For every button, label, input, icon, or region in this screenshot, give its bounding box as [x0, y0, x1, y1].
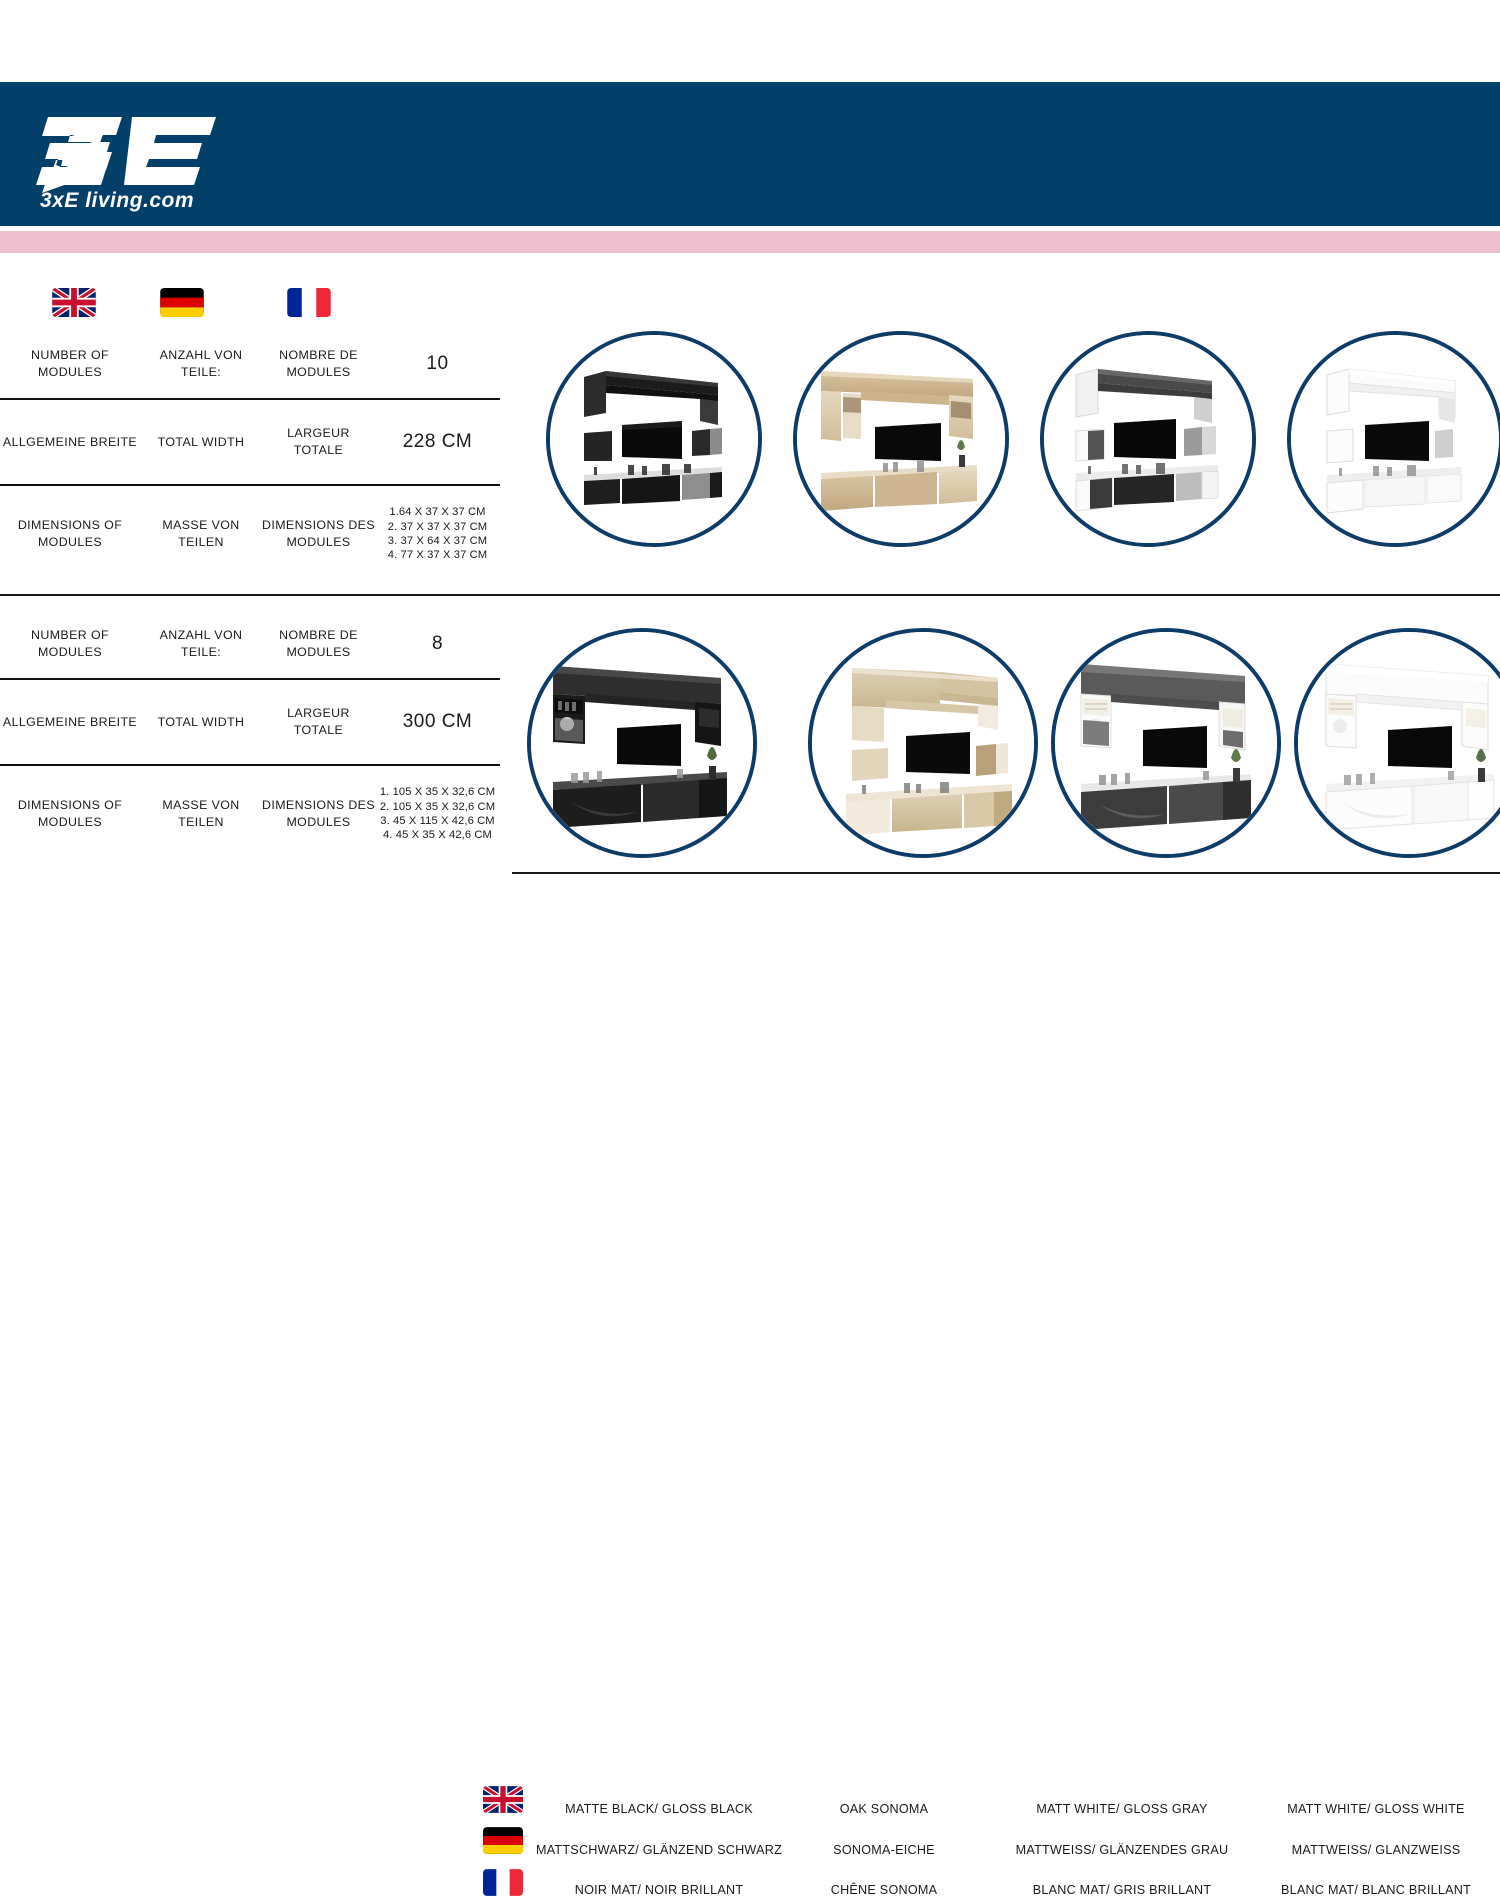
product-image-300-matt-white-gloss-gray[interactable] [1051, 628, 1281, 858]
legend-finish-fr: BLANC MAT/ GRIS BRILLANT [1033, 1883, 1212, 1897]
legend-finish-de: MATTWEISS/ GLANZWEISS [1292, 1843, 1461, 1857]
table-row: ALLGEMEINE BREITE TOTAL WIDTH LARGEUR TO… [0, 678, 500, 764]
dimension-line: 4. 77 X 37 X 37 CM [375, 548, 500, 562]
row-value: 228 CM [375, 430, 500, 454]
table-row: NUMBER OF MODULES ANZAHL VON TEILE: NOMB… [0, 330, 500, 398]
row-label-en: DIMENSIONS OF MODULES [0, 797, 140, 831]
product-image-300-oak-sonoma[interactable] [808, 628, 1038, 858]
row-label-en: ALLGEMEINE BREITE [0, 714, 140, 731]
legend-finish-de: SONOMA-EICHE [833, 1843, 935, 1857]
dimension-line: 1. 105 X 35 X 32,6 CM [375, 785, 500, 799]
dimension-line: 2. 37 X 37 x 37 CM [375, 520, 500, 534]
legend-finish-fr: BLANC MAT/ BLANC BRILLANT [1281, 1883, 1471, 1897]
legend-finish-en: MATT WHITE/ GLOSS WHITE [1287, 1802, 1464, 1816]
row-label-fr: NOMBRE DE MODULES [262, 347, 375, 381]
brand-logo: 3xE living.com [36, 108, 226, 213]
dimension-line: 2. 105 X 35 X 32,6 CM [375, 800, 500, 814]
row-label-en: NUMBER OF MODULES [0, 627, 140, 661]
logo-wordmark: 3xE living.com [40, 189, 194, 212]
row-label-en: DIMENSIONS OF MODULES [0, 517, 140, 551]
finish-legend: MATTE BLACK/ GLOSS BLACK OAK SONOMA MATT… [0, 888, 1500, 1038]
legend-finish-en: OAK SONOMA [840, 1802, 929, 1816]
logo-3e-icon: 3xE living.com [36, 108, 226, 213]
uk-flag-icon [483, 1786, 523, 1813]
french-flag-icon [483, 1869, 523, 1896]
row-value: 300 CM [375, 710, 500, 734]
row-value: 10 [375, 352, 500, 376]
table-row: NUMBER OF MODULES ANZAHL VON TEILE: NOMB… [0, 610, 500, 678]
row-label-de: MASSE VON TEILEN [140, 797, 262, 831]
pink-accent-stripe [0, 231, 1500, 253]
row-label-de: MASSE VON TEILEN [140, 517, 262, 551]
row-label-de: ANZAHL VON TEILE: [140, 627, 262, 661]
dimension-line: 1.64 x 37 X 37 CM [375, 505, 500, 519]
module-dimensions-list: 1.64 x 37 X 37 CM2. 37 X 37 x 37 CM3. 37… [375, 505, 500, 563]
product-image-300-matte-black-gloss-black[interactable] [527, 628, 757, 858]
row-label-fr: NOMBRE DE MODULES [262, 627, 375, 661]
product-image-matt-white-gloss-gray[interactable] [1040, 331, 1256, 547]
table-row: DIMENSIONS OF MODULES MASSE VON TEILEN D… [0, 764, 500, 862]
row-label-fr: DIMENSIONS DES MODULES [262, 797, 375, 831]
french-flag-icon [287, 288, 331, 317]
spec-sheet-page: 3xE living.com [0, 0, 1500, 1125]
legend-finish-en: MATTE BLACK/ GLOSS BLACK [565, 1802, 753, 1816]
section-divider [0, 594, 1500, 596]
legend-finish-de: MATTSCHWARZ/ GLÄNZEND SCHWARZ [536, 1843, 782, 1857]
legend-finish-en: MATT WHITE/ GLOSS GRAY [1036, 1802, 1207, 1816]
german-flag-icon [483, 1827, 523, 1854]
legend-divider [512, 872, 1500, 874]
row-label-fr: LARGEUR TOTALE [262, 425, 375, 459]
product-image-300-matt-white-gloss-white[interactable] [1294, 628, 1500, 858]
row-value: 8 [375, 632, 500, 656]
legend-finish-fr: NOIR MAT/ NOIR BRILLANT [575, 1883, 744, 1897]
dimension-line: 3. 37 X 64 X 37 CM [375, 534, 500, 548]
legend-finish-fr: CHÊNE SONOMA [831, 1883, 938, 1897]
module-dimensions-list: 1. 105 X 35 X 32,6 CM2. 105 X 35 X 32,6 … [375, 785, 500, 843]
row-label-fr: DIMENSIONS DES MODULES [262, 517, 375, 551]
spec-table-300: NUMBER OF MODULES ANZAHL VON TEILE: NOMB… [0, 610, 500, 862]
row-label-en: NUMBER OF MODULES [0, 347, 140, 381]
spec-table-flag-row [0, 288, 500, 330]
dimension-line: 4. 45 X 35 X 42,6 CM [375, 828, 500, 842]
row-label-en: ALLGEMEINE BREITE [0, 434, 140, 451]
row-label-de: TOTAL WIDTH [140, 714, 262, 731]
row-label-de: ANZAHL VON TEILE: [140, 347, 262, 381]
row-label-fr: LARGEUR TOTALE [262, 705, 375, 739]
row-label-de: TOTAL WIDTH [140, 434, 262, 451]
legend-finish-de: MATTWEISS/ GLÄNZENDES GRAU [1016, 1843, 1229, 1857]
table-row: DIMENSIONS OF MODULES MASSE VON TEILEN D… [0, 484, 500, 582]
product-image-matte-black-gloss-black[interactable] [546, 331, 762, 547]
product-image-matt-white-gloss-white[interactable] [1287, 331, 1500, 547]
german-flag-icon [160, 288, 204, 317]
uk-flag-icon [52, 288, 96, 317]
table-row: ALLGEMEINE BREITE TOTAL WIDTH LARGEUR TO… [0, 398, 500, 484]
product-image-oak-sonoma[interactable] [793, 331, 1009, 547]
dimension-line: 3. 45 X 115 X 42,6 CM [375, 814, 500, 828]
